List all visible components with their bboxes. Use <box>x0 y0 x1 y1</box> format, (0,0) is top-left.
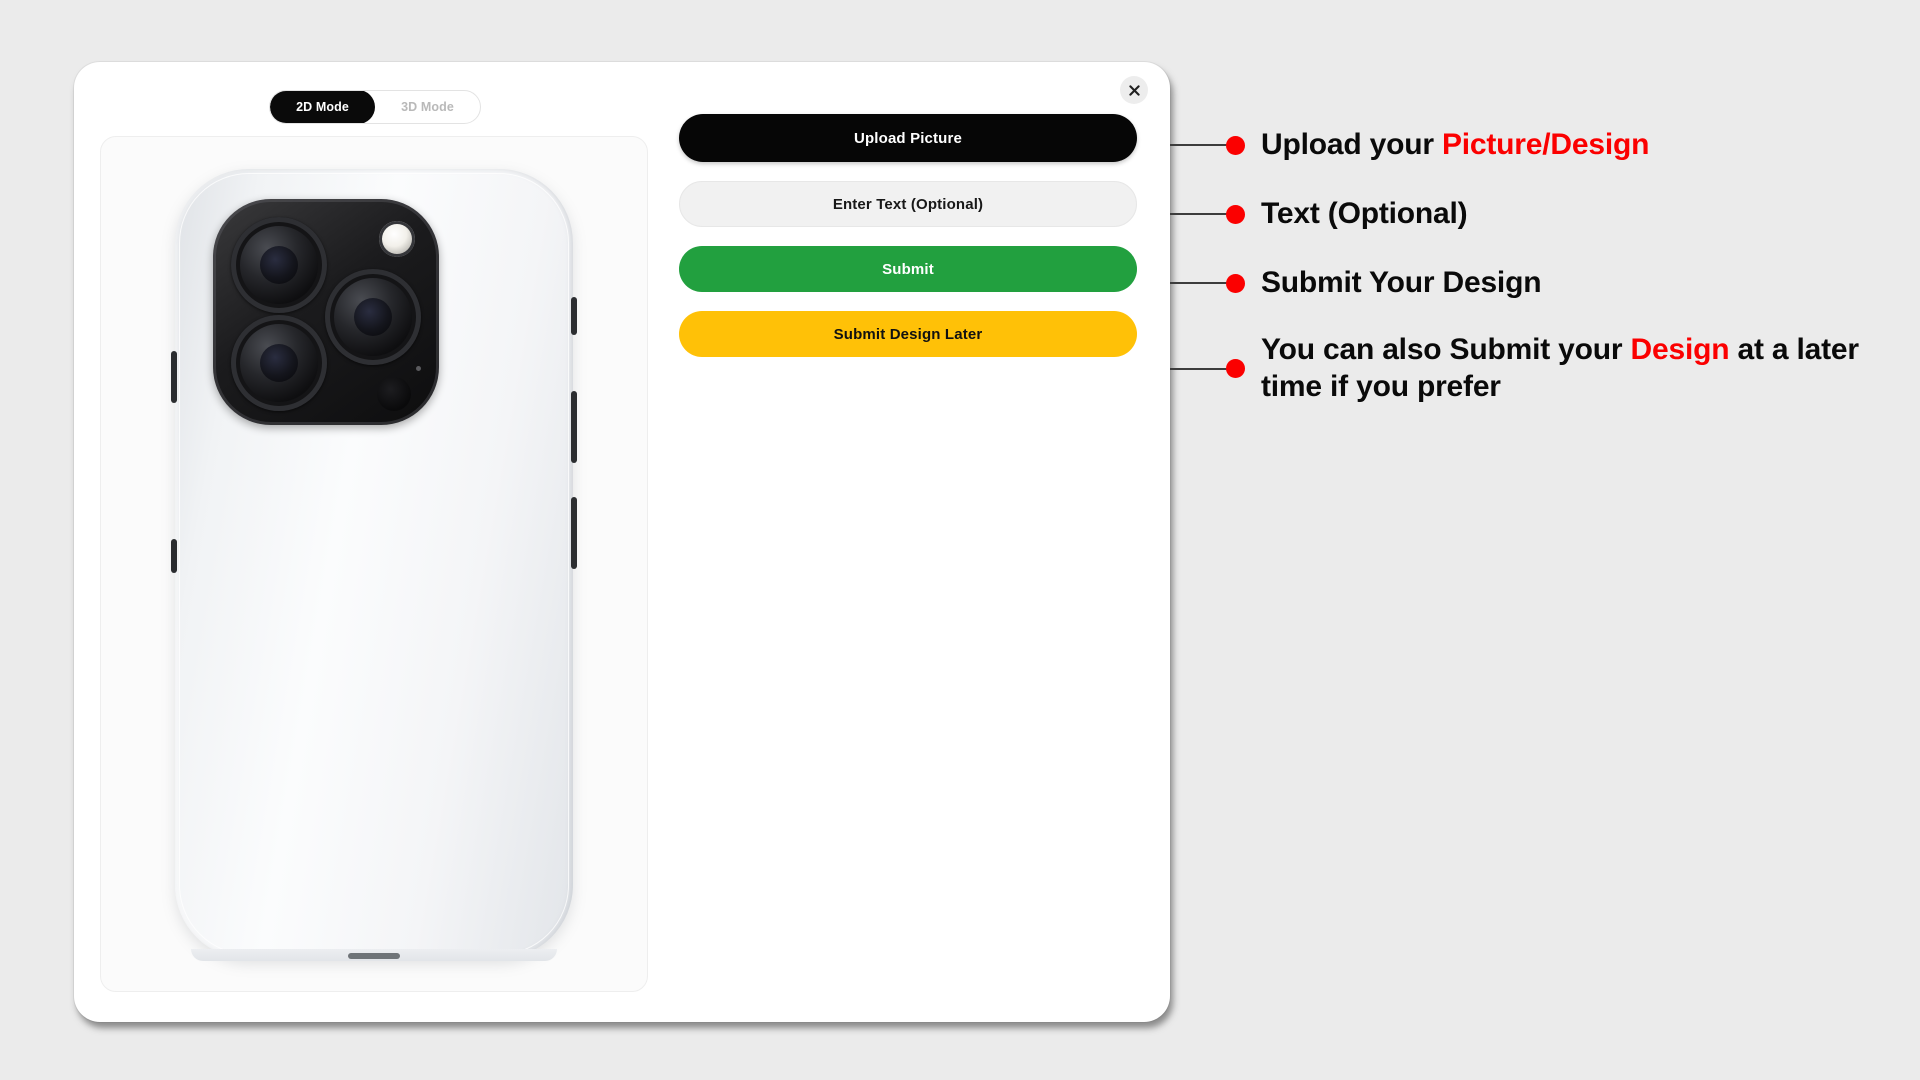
close-icon <box>1129 85 1140 96</box>
product-preview-panel[interactable] <box>100 136 648 992</box>
tab-3d-mode[interactable]: 3D Mode <box>375 91 480 123</box>
lidar-sensor <box>377 377 411 411</box>
charging-port-cutout <box>348 953 400 959</box>
annotation-layer: Upload your Picture/Design Text (Optiona… <box>1170 0 1920 1080</box>
leader-dot-icon <box>1226 205 1245 224</box>
annotation-upload-highlight: Picture/Design <box>1442 128 1649 161</box>
leader-dot-icon <box>1226 136 1245 155</box>
tab-2d-mode[interactable]: 2D Mode <box>270 90 375 124</box>
submit-button[interactable]: Submit <box>679 246 1137 292</box>
phone-body <box>175 169 573 959</box>
camera-flash <box>379 221 415 257</box>
annotation-upload: Upload your Picture/Design <box>1170 127 1649 164</box>
camera-lens-top-left <box>231 217 327 313</box>
left-side-button <box>171 539 177 573</box>
leader-line <box>1170 282 1227 284</box>
annotation-submit: Submit Your Design <box>1170 265 1541 302</box>
leader-dot-icon <box>1226 274 1245 293</box>
enter-text-input-button[interactable]: Enter Text (Optional) <box>679 181 1137 227</box>
design-modal: 2D Mode 3D Mode <box>74 62 1170 1022</box>
annotation-upload-prefix: Upload your <box>1261 128 1442 161</box>
submit-design-later-button[interactable]: Submit Design Later <box>679 311 1137 357</box>
close-button[interactable] <box>1120 76 1148 104</box>
annotation-text: Text (Optional) <box>1170 196 1467 233</box>
power-button <box>571 497 577 569</box>
phone-case-mockup <box>175 169 573 959</box>
camera-lens-middle-right <box>325 269 421 365</box>
annotation-upload-text: Upload your Picture/Design <box>1261 127 1649 164</box>
volume-up-button <box>571 297 577 335</box>
annotation-later-highlight: Design <box>1631 333 1730 366</box>
leader-line <box>1170 144 1227 146</box>
annotation-submit-later: You can also Submit your Design at a lat… <box>1170 332 1861 405</box>
leader-line <box>1170 213 1227 215</box>
leader-dot-icon <box>1226 359 1245 378</box>
annotation-text-label: Text (Optional) <box>1261 196 1467 233</box>
annotation-submit-later-text: You can also Submit your Design at a lat… <box>1261 332 1861 405</box>
action-button-group: Upload Picture Enter Text (Optional) Sub… <box>679 114 1137 357</box>
volume-down-button <box>571 391 577 463</box>
mode-toggle[interactable]: 2D Mode 3D Mode <box>269 90 481 124</box>
screenshot-root: 2D Mode 3D Mode <box>0 0 1920 1080</box>
annotation-later-prefix: You can also Submit your <box>1261 333 1631 366</box>
camera-module <box>213 199 439 425</box>
leader-line <box>1170 368 1227 370</box>
annotation-submit-label: Submit Your Design <box>1261 265 1541 302</box>
camera-lens-bottom-left <box>231 315 327 411</box>
mute-switch <box>171 351 177 403</box>
microphone-dot <box>416 366 421 371</box>
upload-picture-button[interactable]: Upload Picture <box>679 114 1137 162</box>
phone-bottom-lip <box>191 949 557 961</box>
